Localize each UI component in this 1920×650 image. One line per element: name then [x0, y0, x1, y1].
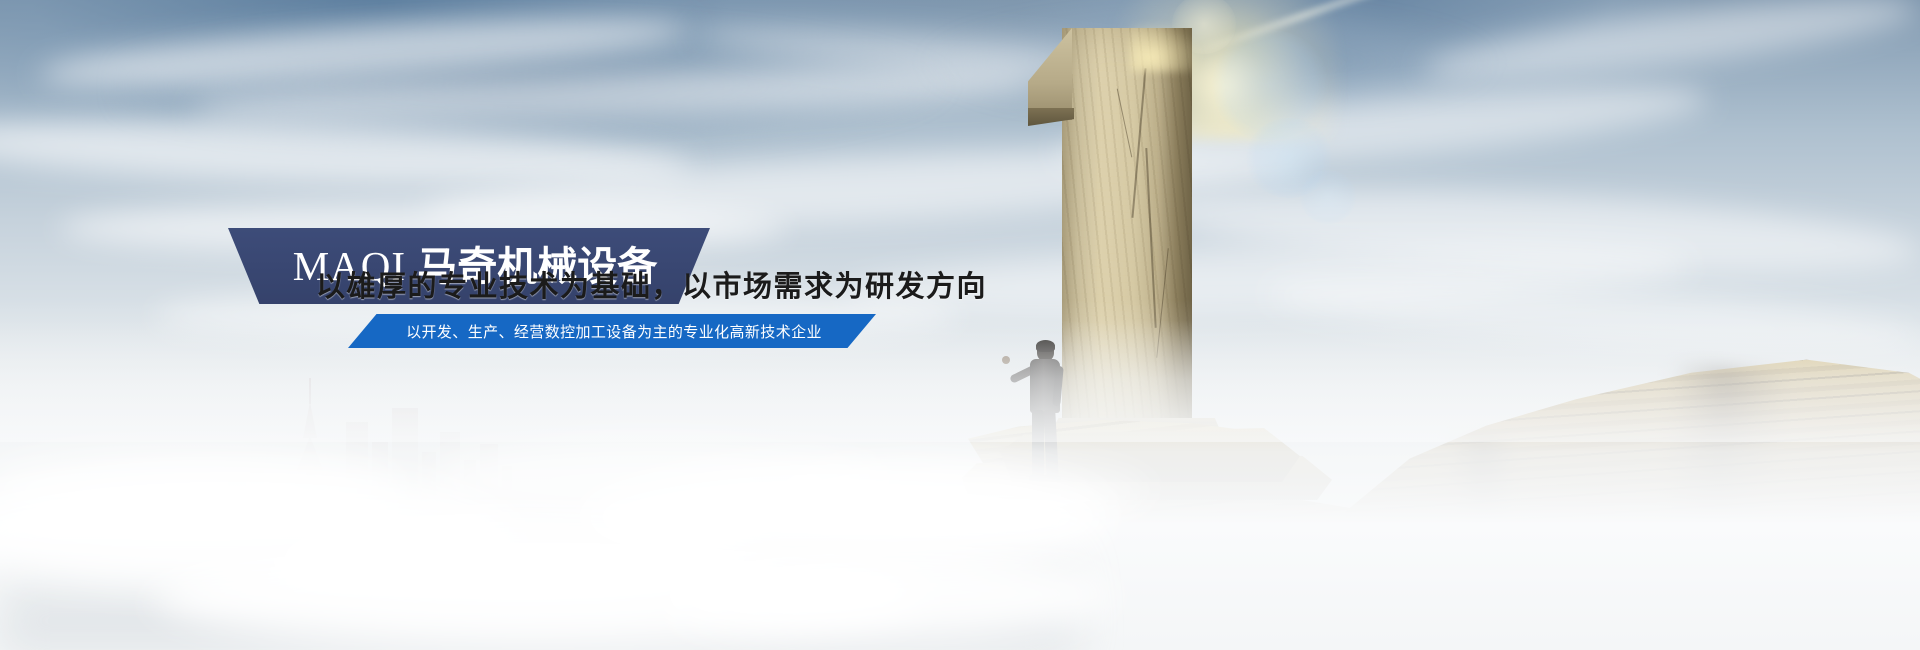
stone-crack: [1117, 89, 1133, 158]
hero-banner: MAQI 马奇机械设备 以雄厚的专业技术为基础，以市场需求为研发方向 以开发、生…: [0, 0, 1920, 650]
monument-sun-highlight: [1130, 22, 1202, 72]
monument-serif-flag: [1028, 28, 1072, 120]
sea-of-clouds: [0, 320, 1920, 650]
stone-crack: [1131, 68, 1146, 218]
tagline-text: 以开发、生产、经营数控加工设备为主的专业化高新技术企业: [406, 321, 822, 342]
cloud-puff: [653, 550, 1114, 640]
tagline-bar: 以开发、生产、经营数控加工设备为主的专业化高新技术企业: [348, 314, 876, 348]
banner-subtitle: 以雄厚的专业技术为基础，以市场需求为研发方向: [316, 263, 1216, 305]
